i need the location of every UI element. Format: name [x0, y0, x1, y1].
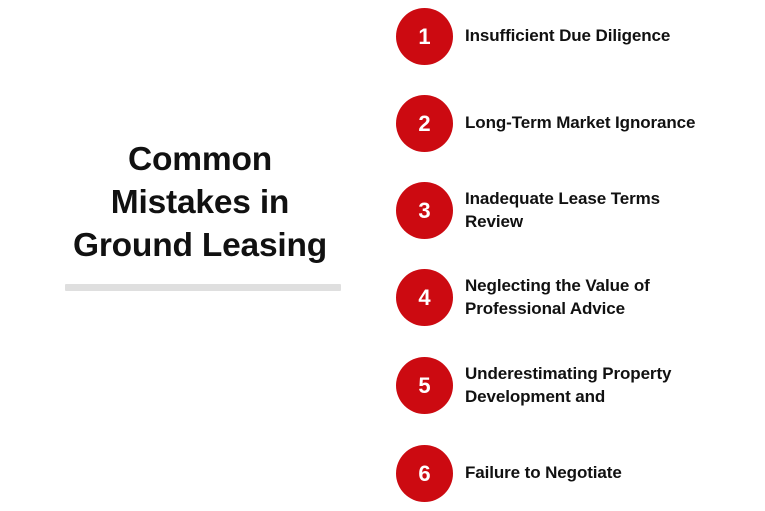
- list-item-text: Insufficient Due Diligence: [465, 25, 670, 48]
- list-item: 2 Long-Term Market Ignorance: [390, 95, 765, 152]
- number-badge-label: 1: [396, 8, 453, 65]
- list-item-text-line-2: Professional Advice: [465, 299, 625, 318]
- title-line-1: Common: [45, 138, 355, 181]
- numbered-list: 1 Insufficient Due Diligence 2 Long-Term…: [390, 0, 765, 511]
- number-badge-5: 5: [396, 357, 453, 414]
- title-line-2: Mistakes in: [45, 181, 355, 224]
- list-item-label-3: Inadequate Lease TermsReview: [465, 182, 755, 239]
- title-divider: [65, 284, 341, 291]
- number-badge-3: 3: [396, 182, 453, 239]
- list-item-label-1: Insufficient Due Diligence: [465, 8, 755, 65]
- list-item: 1 Insufficient Due Diligence: [390, 8, 765, 65]
- number-badge-4: 4: [396, 269, 453, 326]
- title-line-3: Ground Leasing: [45, 224, 355, 267]
- list-item-text-line-1: Inadequate Lease Terms: [465, 189, 660, 208]
- title-column: Common Mistakes in Ground Leasing: [0, 0, 390, 511]
- list-item-text: Failure to Negotiate: [465, 462, 622, 485]
- list-item-text: Neglecting the Value ofProfessional Advi…: [465, 275, 650, 320]
- list-item: 4 Neglecting the Value ofProfessional Ad…: [390, 269, 765, 326]
- list-item: 5 Underestimating PropertyDevelopment an…: [390, 357, 765, 414]
- number-badge-label: 2: [396, 95, 453, 152]
- list-item: 6 Failure to Negotiate: [390, 445, 765, 502]
- number-badge-2: 2: [396, 95, 453, 152]
- list-item-text-line-1: Underestimating Property: [465, 364, 671, 383]
- number-badge-label: 4: [396, 269, 453, 326]
- list-item-text: Long-Term Market Ignorance: [465, 112, 695, 135]
- number-badge-1: 1: [396, 8, 453, 65]
- list-item: 3 Inadequate Lease TermsReview: [390, 182, 765, 239]
- list-item-label-6: Failure to Negotiate: [465, 445, 755, 502]
- list-item-text-line-1: Neglecting the Value of: [465, 276, 650, 295]
- list-item-text-line-2: Review: [465, 212, 523, 231]
- list-item-text-line-2: Development and: [465, 387, 605, 406]
- number-badge-6: 6: [396, 445, 453, 502]
- page-title: Common Mistakes in Ground Leasing: [45, 138, 355, 267]
- list-item-label-4: Neglecting the Value ofProfessional Advi…: [465, 269, 755, 326]
- number-badge-label: 5: [396, 357, 453, 414]
- number-badge-label: 6: [396, 445, 453, 502]
- list-item-text: Underestimating PropertyDevelopment and: [465, 363, 671, 408]
- list-item-text: Inadequate Lease TermsReview: [465, 188, 660, 233]
- number-badge-label: 3: [396, 182, 453, 239]
- list-item-label-5: Underestimating PropertyDevelopment and: [465, 357, 755, 414]
- infographic-canvas: Common Mistakes in Ground Leasing 1 Insu…: [0, 0, 765, 511]
- list-item-label-2: Long-Term Market Ignorance: [465, 95, 755, 152]
